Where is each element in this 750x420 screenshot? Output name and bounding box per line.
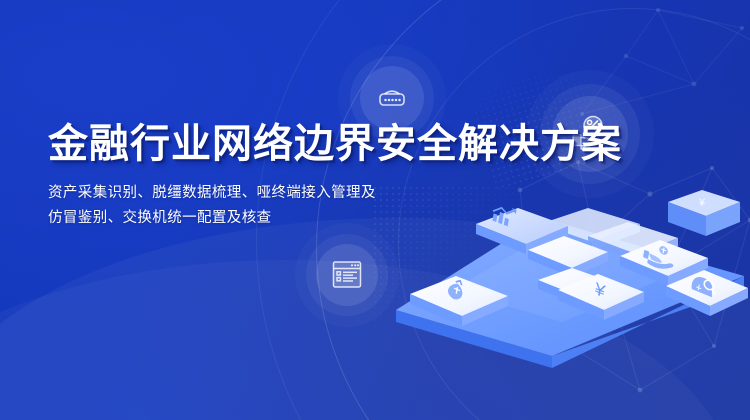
badge-router-device: [360, 66, 424, 130]
banner-stage: ¥: [0, 0, 750, 420]
subtitle-line-1: 资产采集识别、脱缰数据梳理、哑终端接入管理及: [48, 181, 518, 206]
banner-copy: 金融行业网络边界安全解决方案 资产采集识别、脱缰数据梳理、哑终端接入管理及 仿冒…: [48, 122, 518, 231]
badge-document-window: [316, 244, 378, 306]
svg-text:¥: ¥: [698, 197, 706, 209]
server-icon: [375, 81, 409, 115]
document-window-icon: [331, 260, 363, 290]
yen-cube-tile: ¥: [668, 190, 740, 236]
badge-router-circle: [360, 66, 424, 130]
page-title: 金融行业网络边界安全解决方案: [48, 122, 518, 167]
subtitle-line-2: 仿冒鉴别、交换机统一配置及核查: [48, 206, 518, 231]
banner-subtitle: 资产采集识别、脱缰数据梳理、哑终端接入管理及 仿冒鉴别、交换机统一配置及核查: [48, 181, 518, 231]
badge-document-circle: [316, 244, 378, 306]
